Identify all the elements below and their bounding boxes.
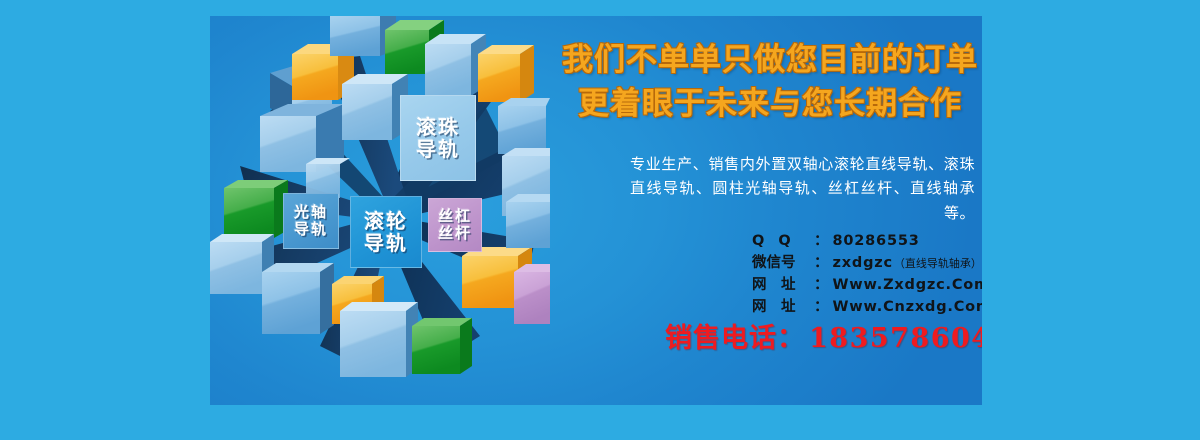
contact-row-website1: 网 址 ： Www.Zxdgzc.Com xyxy=(752,274,982,296)
product-box-line1: 光轴 xyxy=(294,204,328,221)
contact-row-wechat: 微信号 ： zxdgzc （直线导轨轴承） xyxy=(752,252,982,274)
contact-colon: ： xyxy=(814,296,829,318)
product-box-line2: 导轨 xyxy=(416,138,460,160)
contact-colon: ： xyxy=(814,230,829,252)
headline-line1: 我们不单单只做您目前的订单 xyxy=(560,38,980,82)
product-box-sigang-sigan[interactable]: 丝杠 丝杆 xyxy=(428,198,482,252)
sales-phone-label: 销售电话： xyxy=(665,323,805,354)
product-box-line2: 导轨 xyxy=(294,221,328,238)
product-box-gunzhu-daogui[interactable]: 滚珠 导轨 xyxy=(400,95,476,181)
product-box-line1: 滚轮 xyxy=(364,210,408,232)
contact-note-wechat: （直线导轨轴承） xyxy=(894,256,982,273)
product-box-line1: 滚珠 xyxy=(416,116,460,138)
contact-row-qq: QQ ： 80286553 xyxy=(752,230,982,252)
contact-row-website2: 网 址 ： Www.Cnzxdg.Com xyxy=(752,296,982,318)
product-box-line1: 丝杠 xyxy=(438,208,472,225)
contact-value-website2[interactable]: Www.Cnzxdg.Com xyxy=(833,296,983,318)
contact-label-qq: QQ xyxy=(752,230,814,252)
contact-colon: ： xyxy=(814,252,829,274)
banner-panel: 滚珠 导轨 光轴 导轨 滚轮 导轨 丝杠 丝杆 我们不单单只做您目前的订单 更着… xyxy=(210,16,982,405)
product-box-guangzhou-daogui[interactable]: 光轴 导轨 xyxy=(283,193,339,249)
contact-colon: ： xyxy=(814,274,829,296)
sales-phone[interactable]: 销售电话：18357860469 xyxy=(665,316,982,355)
contact-label-wechat: 微信号 xyxy=(752,252,814,274)
contact-label-website2: 网 址 xyxy=(752,296,814,318)
contact-value-qq[interactable]: 80286553 xyxy=(833,230,920,252)
headline-line2: 更着眼于未来与您长期合作 xyxy=(560,82,980,126)
description-text: 专业生产、销售内外置双轴心滚轮直线导轨、滚珠直线导轨、圆柱光轴导轨、丝杠丝杆、直… xyxy=(630,152,975,225)
sales-phone-number[interactable]: 18357860469 xyxy=(809,323,982,354)
contact-value-website1[interactable]: Www.Zxdgzc.Com xyxy=(833,274,983,296)
headline: 我们不单单只做您目前的订单 更着眼于未来与您长期合作 xyxy=(560,38,980,126)
contact-value-wechat[interactable]: zxdgzc xyxy=(833,252,893,274)
product-box-line2: 丝杆 xyxy=(438,225,472,242)
contact-label-website1: 网 址 xyxy=(752,274,814,296)
product-box-line2: 导轨 xyxy=(364,232,408,254)
contact-info: QQ ： 80286553 微信号 ： zxdgzc （直线导轨轴承） 网 址 … xyxy=(752,230,982,318)
product-box-gunlun-daogui[interactable]: 滚轮 导轨 xyxy=(350,196,422,268)
promotional-banner: 滚珠 导轨 光轴 导轨 滚轮 导轨 丝杠 丝杆 我们不单单只做您目前的订单 更着… xyxy=(0,0,1200,440)
